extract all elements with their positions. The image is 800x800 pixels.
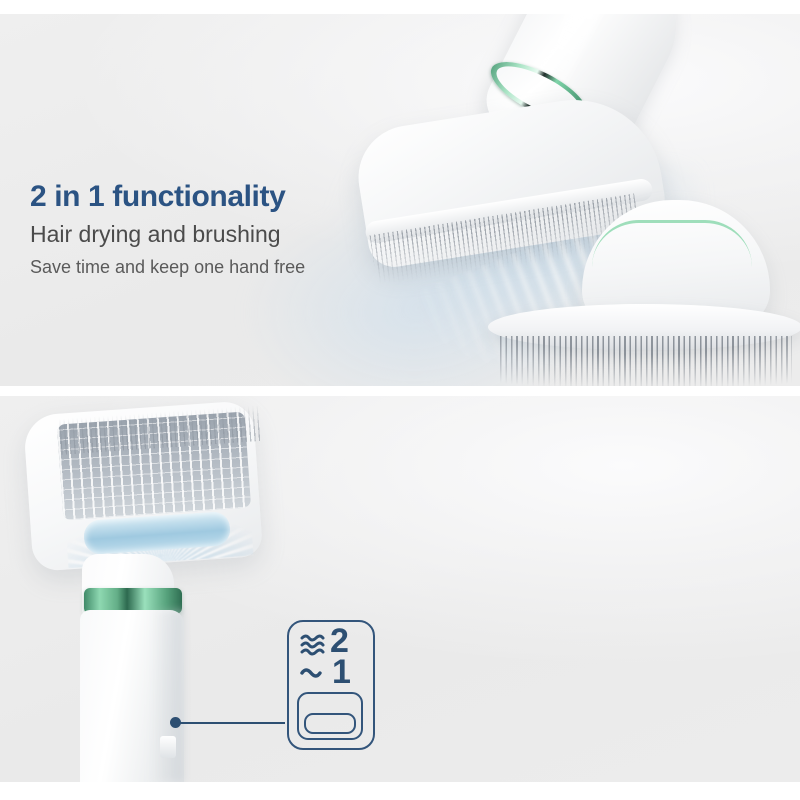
bottom-product-image	[0, 396, 800, 782]
heat-setting-1-label: 1	[332, 655, 351, 689]
power-button-on-device[interactable]	[160, 736, 176, 758]
top-subtitle: Hair drying and brushing	[30, 221, 390, 248]
bottom-feature-panel: 2 heat settings and overhead protection …	[0, 396, 800, 782]
top-caption: Save time and keep one hand free	[30, 256, 390, 278]
product-infographic: 2 in 1 functionality Hair drying and bru…	[0, 0, 800, 800]
triple-wave-icon	[300, 632, 328, 658]
top-headline: 2 in 1 functionality	[30, 180, 390, 214]
round-head-bristles	[500, 336, 792, 386]
round-head-mint-arc	[592, 220, 752, 267]
power-slider-switch-pill[interactable]	[304, 713, 356, 734]
single-wave-icon	[300, 664, 328, 680]
top-feature-panel: 2 in 1 functionality Hair drying and bru…	[0, 14, 800, 386]
top-text-block: 2 in 1 functionality Hair drying and bru…	[30, 180, 390, 278]
callout-leader-line	[177, 722, 285, 724]
